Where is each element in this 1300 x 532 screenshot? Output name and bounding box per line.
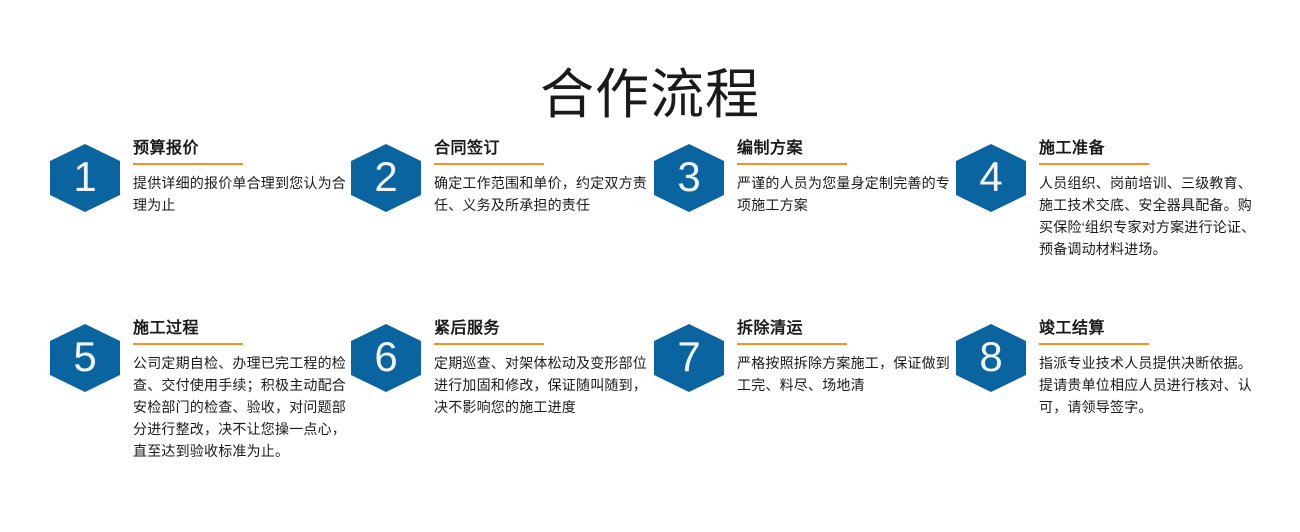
step-badge-8: 8 — [956, 324, 1026, 392]
step-heading-2: 合同签订 — [434, 138, 649, 159]
step-body-1: 预算报价 提供详细的报价单合理到您认为合理为止 — [133, 138, 348, 216]
step-heading-7: 拆除清运 — [737, 318, 952, 339]
step-heading-4: 施工准备 — [1039, 138, 1259, 159]
step-body-8: 竣工结算 指派专业技术人员提供决断依据。提请贵单位相应人员进行核对、认可，请领导… — [1039, 318, 1259, 418]
step-badge-6: 6 — [351, 324, 421, 392]
step-body-5: 施工过程 公司定期自检、办理已完工程的检查、交付使用手续；积极主动配合安检部门的… — [133, 318, 348, 462]
step-rule-6 — [434, 343, 544, 345]
step-rule-8 — [1039, 343, 1149, 345]
step-body-6: 紧后服务 定期巡查、对架体松动及变形部位进行加固和修改，保证随叫随到，决不影响您… — [434, 318, 649, 418]
step-heading-1: 预算报价 — [133, 138, 348, 159]
step-number-1: 1 — [50, 144, 120, 212]
step-text-8: 指派专业技术人员提供决断依据。提请贵单位相应人员进行核对、认可，请领导签字。 — [1039, 352, 1259, 418]
step-text-3: 严谨的人员为您量身定制完善的专项施工方案 — [737, 172, 952, 216]
step-body-3: 编制方案 严谨的人员为您量身定制完善的专项施工方案 — [737, 138, 952, 216]
step-number-4: 4 — [956, 144, 1026, 212]
step-text-1: 提供详细的报价单合理到您认为合理为止 — [133, 172, 348, 216]
step-badge-7: 7 — [654, 324, 724, 392]
step-number-2: 2 — [351, 144, 421, 212]
step-rule-4 — [1039, 163, 1149, 165]
step-badge-5: 5 — [50, 324, 120, 392]
step-number-3: 3 — [654, 144, 724, 212]
step-text-6: 定期巡查、对架体松动及变形部位进行加固和修改，保证随叫随到，决不影响您的施工进度 — [434, 352, 649, 418]
step-badge-1: 1 — [50, 144, 120, 212]
step-number-6: 6 — [351, 324, 421, 392]
cooperation-process-infographic: { "title": "合作流程", "theme": { "hex_fill"… — [0, 0, 1300, 532]
step-number-7: 7 — [654, 324, 724, 392]
step-heading-3: 编制方案 — [737, 138, 952, 159]
step-heading-6: 紧后服务 — [434, 318, 649, 339]
step-body-7: 拆除清运 严格按照拆除方案施工，保证做到工完、料尽、场地清 — [737, 318, 952, 396]
step-body-2: 合同签订 确定工作范围和单价，约定双方责任、义务及所承担的责任 — [434, 138, 649, 216]
step-rule-2 — [434, 163, 544, 165]
step-heading-8: 竣工结算 — [1039, 318, 1259, 339]
step-rule-3 — [737, 163, 847, 165]
step-text-7: 严格按照拆除方案施工，保证做到工完、料尽、场地清 — [737, 352, 952, 396]
page-title: 合作流程 — [0, 62, 1300, 128]
step-rule-5 — [133, 343, 243, 345]
step-rule-1 — [133, 163, 243, 165]
step-rule-7 — [737, 343, 847, 345]
step-text-2: 确定工作范围和单价，约定双方责任、义务及所承担的责任 — [434, 172, 649, 216]
step-badge-2: 2 — [351, 144, 421, 212]
step-heading-5: 施工过程 — [133, 318, 348, 339]
step-text-5: 公司定期自检、办理已完工程的检查、交付使用手续；积极主动配合安检部门的检查、验收… — [133, 352, 348, 462]
step-text-4: 人员组织、岗前培训、三级教育、施工技术交底、安全器具配备。购买保险‘组织专家对方… — [1039, 172, 1259, 260]
step-badge-4: 4 — [956, 144, 1026, 212]
step-number-8: 8 — [956, 324, 1026, 392]
step-badge-3: 3 — [654, 144, 724, 212]
step-body-4: 施工准备 人员组织、岗前培训、三级教育、施工技术交底、安全器具配备。购买保险‘组… — [1039, 138, 1259, 260]
step-number-5: 5 — [50, 324, 120, 392]
